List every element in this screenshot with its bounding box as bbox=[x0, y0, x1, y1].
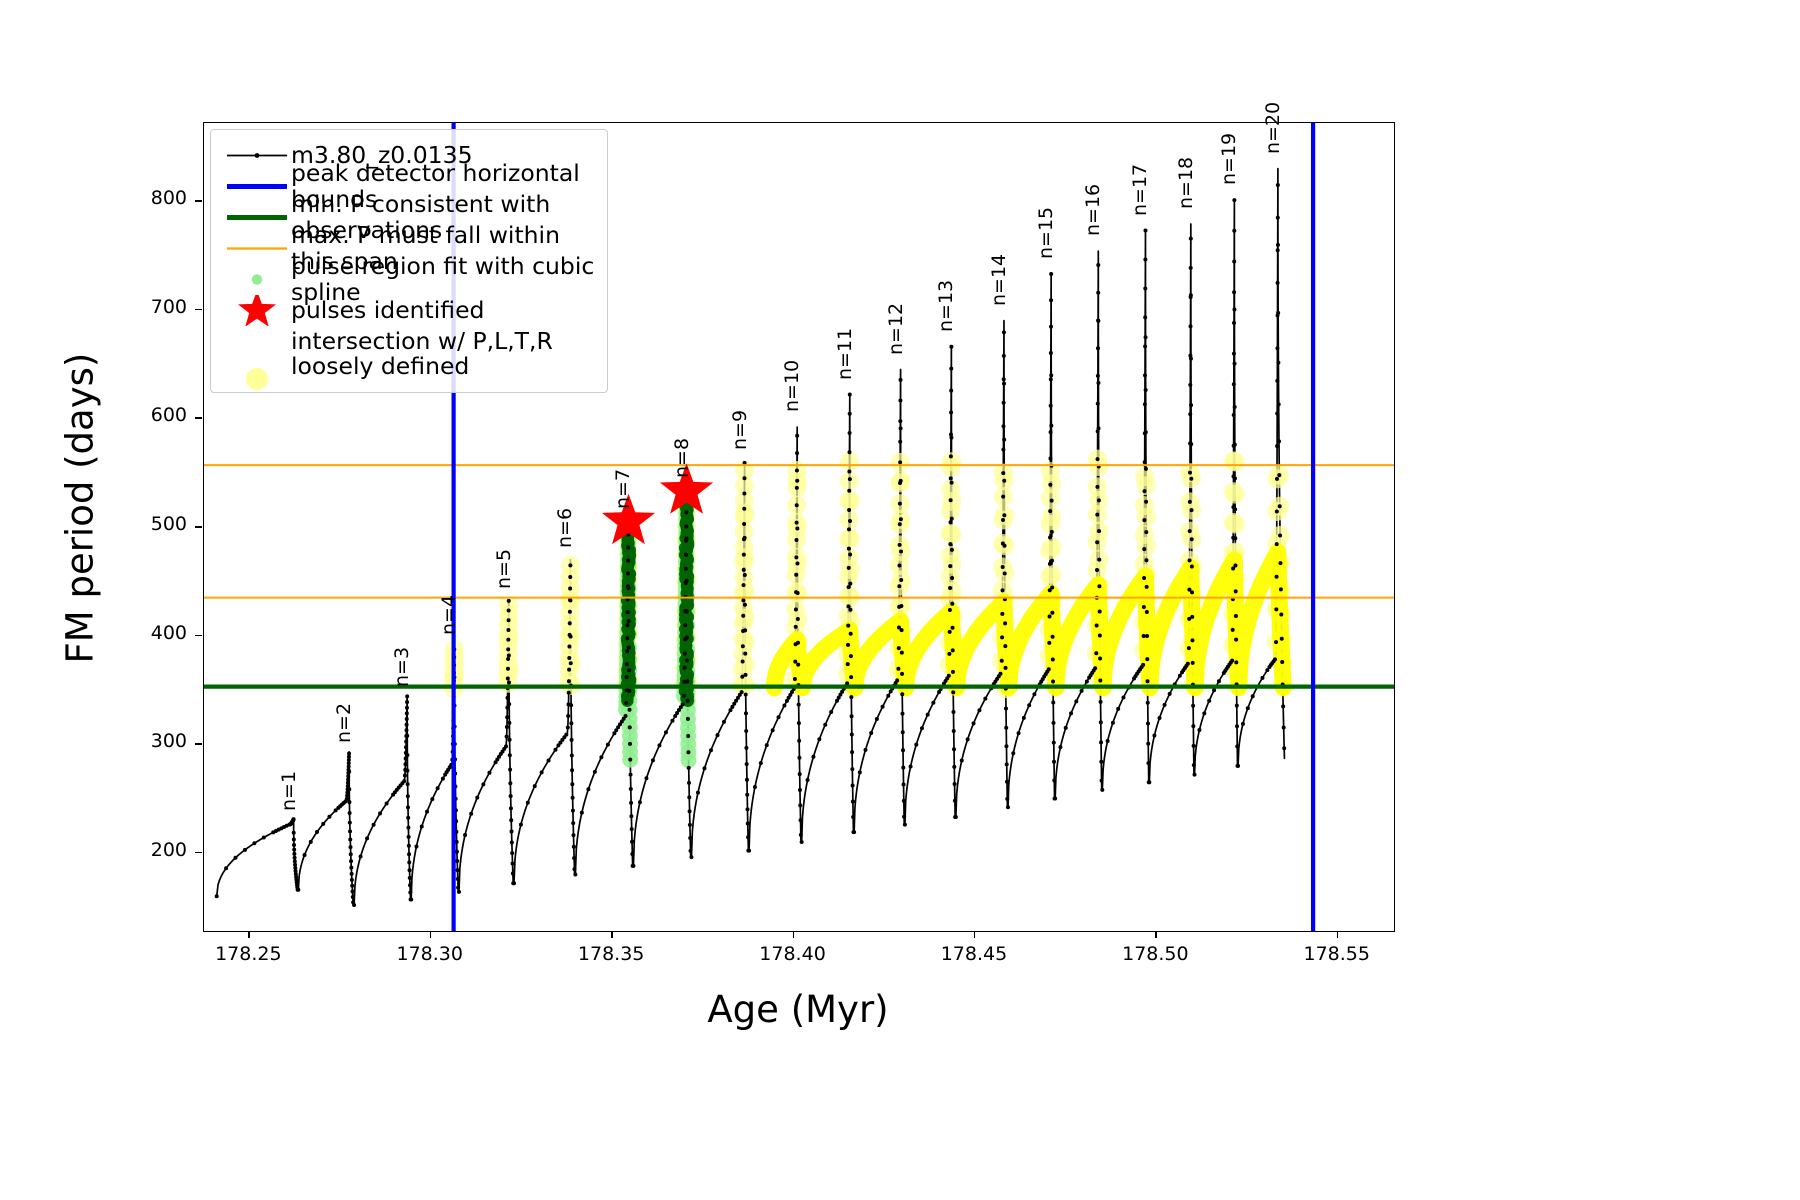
peak-label-n2: n=2 bbox=[333, 703, 355, 743]
data-point bbox=[1146, 679, 1150, 683]
data-point bbox=[1096, 381, 1100, 385]
data-point bbox=[506, 628, 510, 632]
data-point bbox=[627, 619, 631, 623]
data-point bbox=[797, 703, 801, 707]
data-point bbox=[1027, 703, 1031, 707]
data-point bbox=[350, 872, 354, 876]
data-point bbox=[507, 609, 511, 613]
data-point bbox=[1047, 667, 1051, 671]
data-point bbox=[1145, 585, 1149, 589]
data-point bbox=[1277, 439, 1281, 443]
data-point bbox=[796, 663, 800, 667]
data-point bbox=[510, 841, 514, 845]
data-point bbox=[1189, 266, 1193, 270]
data-point bbox=[506, 667, 510, 671]
data-point bbox=[570, 754, 574, 758]
data-point bbox=[1005, 780, 1009, 784]
data-point bbox=[569, 721, 573, 725]
data-point bbox=[899, 479, 903, 483]
data-point bbox=[983, 697, 987, 701]
data-point bbox=[796, 591, 800, 595]
intersection-marker bbox=[841, 529, 860, 548]
peak-label-n1: n=1 bbox=[278, 771, 300, 811]
data-point bbox=[744, 673, 748, 677]
data-point bbox=[952, 765, 956, 769]
data-point bbox=[1097, 558, 1101, 562]
data-point bbox=[898, 522, 902, 526]
data-point bbox=[405, 753, 409, 757]
data-point bbox=[321, 822, 325, 826]
data-point bbox=[1005, 762, 1009, 766]
data-point bbox=[404, 745, 408, 749]
data-point bbox=[505, 706, 509, 710]
data-point bbox=[487, 771, 491, 775]
data-point bbox=[1278, 533, 1282, 537]
data-point bbox=[1002, 424, 1006, 428]
data-point bbox=[952, 747, 956, 751]
data-point bbox=[847, 470, 851, 474]
data-point bbox=[1142, 576, 1146, 580]
data-point bbox=[567, 656, 571, 660]
data-point bbox=[1276, 243, 1280, 247]
data-point bbox=[1144, 430, 1148, 434]
data-point bbox=[1234, 614, 1238, 618]
data-point bbox=[352, 903, 356, 907]
legend-entry: intersection w/ P,L,T,R loosely defined bbox=[223, 326, 595, 382]
data-point bbox=[1096, 291, 1100, 295]
data-point bbox=[1234, 660, 1238, 664]
data-point bbox=[709, 748, 713, 752]
data-point bbox=[296, 888, 300, 892]
data-point bbox=[1096, 457, 1100, 461]
data-point bbox=[347, 770, 351, 774]
data-point bbox=[1232, 229, 1236, 233]
legend-marker-icon bbox=[223, 233, 291, 264]
y-tick-mark bbox=[195, 200, 202, 202]
data-point bbox=[848, 553, 852, 557]
data-point bbox=[1188, 500, 1192, 504]
data-point bbox=[1233, 536, 1237, 540]
data-point bbox=[897, 584, 901, 588]
data-point bbox=[1233, 507, 1237, 511]
data-point bbox=[1143, 315, 1147, 319]
data-point bbox=[947, 674, 951, 678]
data-point bbox=[1049, 298, 1053, 302]
data-point bbox=[1022, 716, 1026, 720]
legend-label: intersection w/ P,L,T,R loosely defined bbox=[291, 329, 553, 380]
data-point bbox=[564, 733, 568, 737]
data-point bbox=[1058, 745, 1062, 749]
data-point bbox=[569, 661, 573, 665]
x-tick-mark bbox=[611, 931, 613, 938]
data-point bbox=[1275, 542, 1279, 546]
data-point bbox=[811, 755, 815, 759]
data-point bbox=[572, 867, 576, 871]
data-point bbox=[507, 618, 511, 622]
data-point bbox=[1097, 529, 1101, 533]
data-point bbox=[951, 648, 955, 652]
data-point bbox=[408, 876, 412, 880]
data-point bbox=[686, 717, 690, 721]
data-point bbox=[1187, 646, 1191, 650]
data-point bbox=[568, 610, 572, 614]
data-point bbox=[1099, 760, 1103, 764]
data-point bbox=[1005, 797, 1009, 801]
data-point bbox=[405, 700, 409, 704]
data-point bbox=[1192, 744, 1196, 748]
data-point bbox=[687, 766, 691, 770]
data-point bbox=[686, 734, 690, 738]
data-point bbox=[408, 883, 412, 887]
data-point bbox=[795, 527, 799, 531]
data-point bbox=[1280, 637, 1284, 641]
data-point bbox=[347, 751, 351, 755]
data-point bbox=[1001, 588, 1005, 592]
data-point bbox=[1188, 383, 1192, 387]
intersection-marker bbox=[840, 452, 859, 471]
data-point bbox=[628, 725, 632, 729]
data-point bbox=[852, 830, 856, 834]
peak-label-n9: n=9 bbox=[729, 410, 751, 450]
data-point bbox=[1002, 438, 1006, 442]
data-point bbox=[350, 889, 354, 893]
data-point bbox=[1230, 659, 1234, 663]
data-point bbox=[817, 737, 821, 741]
data-point bbox=[455, 859, 459, 863]
data-point bbox=[406, 805, 410, 809]
data-point bbox=[405, 723, 409, 727]
data-point bbox=[903, 823, 907, 827]
y-tick-mark bbox=[195, 309, 202, 311]
data-point bbox=[420, 825, 424, 829]
data-point bbox=[960, 759, 964, 763]
data-point bbox=[568, 621, 572, 625]
legend-box: m3.80_z0.0135peak detector horizontal bo… bbox=[210, 129, 608, 393]
data-point bbox=[793, 660, 797, 664]
data-point bbox=[408, 890, 412, 894]
data-point bbox=[1276, 248, 1280, 252]
data-point bbox=[1189, 293, 1193, 297]
data-point bbox=[568, 587, 572, 591]
data-point bbox=[745, 807, 749, 811]
data-point bbox=[1188, 471, 1192, 475]
data-point bbox=[1004, 707, 1008, 711]
data-point bbox=[405, 706, 409, 710]
data-point bbox=[567, 679, 571, 683]
data-point bbox=[926, 713, 930, 717]
data-point bbox=[949, 411, 953, 415]
peak-label-n13: n=13 bbox=[935, 280, 957, 332]
data-point bbox=[1235, 724, 1239, 728]
data-point bbox=[568, 575, 572, 579]
data-point bbox=[606, 743, 610, 747]
intersection-marker bbox=[1043, 565, 1062, 584]
data-point bbox=[1003, 621, 1007, 625]
data-point bbox=[553, 748, 557, 752]
data-point bbox=[950, 481, 954, 485]
data-point bbox=[715, 733, 719, 737]
data-point bbox=[1217, 679, 1221, 683]
data-point bbox=[1064, 726, 1068, 730]
x-tick-label: 178.35 bbox=[551, 943, 671, 965]
data-point bbox=[1189, 357, 1193, 361]
data-point bbox=[406, 794, 410, 798]
data-point bbox=[1207, 699, 1211, 703]
peak-label-n16: n=16 bbox=[1082, 184, 1104, 236]
data-point bbox=[1000, 612, 1004, 616]
data-point bbox=[1282, 726, 1286, 730]
data-point bbox=[1233, 443, 1237, 447]
data-point bbox=[742, 507, 746, 511]
data-point bbox=[402, 779, 406, 783]
legend-marker-icon bbox=[223, 295, 291, 326]
data-point bbox=[1143, 489, 1147, 493]
data-point bbox=[349, 866, 353, 870]
data-point bbox=[851, 784, 855, 788]
legend-key-small-dot-icon bbox=[223, 264, 291, 295]
x-tick-label: 178.30 bbox=[370, 943, 490, 965]
data-point bbox=[782, 704, 786, 708]
data-point bbox=[685, 658, 689, 662]
peak-label-n20: n=20 bbox=[1262, 102, 1284, 154]
data-point bbox=[1152, 734, 1156, 738]
data-point bbox=[688, 809, 692, 813]
data-point bbox=[1188, 558, 1192, 562]
x-tick-label: 178.55 bbox=[1277, 943, 1397, 965]
data-point bbox=[347, 800, 351, 804]
data-point bbox=[899, 426, 903, 430]
data-point bbox=[347, 787, 351, 791]
data-point bbox=[1146, 701, 1150, 705]
data-point bbox=[1275, 477, 1279, 481]
data-point bbox=[1191, 724, 1195, 728]
intersection-marker bbox=[943, 555, 962, 574]
data-point bbox=[799, 833, 803, 837]
data-point bbox=[1146, 742, 1150, 746]
data-point bbox=[898, 419, 902, 423]
data-point bbox=[949, 367, 953, 371]
data-point bbox=[292, 838, 296, 842]
data-point bbox=[1190, 537, 1194, 541]
data-point bbox=[684, 510, 688, 514]
data-point bbox=[1189, 403, 1193, 407]
data-point bbox=[899, 378, 903, 382]
legend-label: pulses identified bbox=[291, 298, 484, 323]
data-point bbox=[315, 830, 319, 834]
data-point bbox=[1051, 701, 1055, 705]
data-point bbox=[849, 654, 853, 658]
data-point bbox=[1190, 508, 1194, 512]
data-point bbox=[1049, 325, 1053, 329]
data-point bbox=[1144, 530, 1148, 534]
data-point bbox=[626, 571, 630, 575]
data-point bbox=[1274, 607, 1278, 611]
data-point bbox=[948, 608, 952, 612]
y-tick-mark bbox=[195, 743, 202, 745]
data-point bbox=[744, 746, 748, 750]
data-point bbox=[953, 782, 957, 786]
data-point bbox=[1095, 485, 1099, 489]
data-point bbox=[771, 728, 775, 732]
data-point bbox=[1168, 692, 1172, 696]
data-point bbox=[570, 738, 574, 742]
data-point bbox=[795, 503, 799, 507]
data-point bbox=[886, 694, 890, 698]
data-point bbox=[303, 853, 307, 857]
data-point bbox=[722, 720, 726, 724]
data-point bbox=[846, 604, 850, 608]
data-point bbox=[743, 603, 747, 607]
x-tick-mark bbox=[1337, 931, 1339, 938]
data-point bbox=[797, 739, 801, 743]
data-point bbox=[1048, 483, 1052, 487]
data-point bbox=[687, 781, 691, 785]
data-point bbox=[795, 469, 799, 473]
data-point bbox=[689, 849, 693, 853]
data-point bbox=[405, 694, 409, 698]
data-point bbox=[901, 748, 905, 752]
x-tick-label: 178.45 bbox=[914, 943, 1034, 965]
data-point bbox=[407, 860, 411, 864]
data-point bbox=[741, 644, 745, 648]
y-tick-label: 400 bbox=[95, 622, 187, 644]
data-point bbox=[948, 564, 952, 568]
data-point bbox=[224, 866, 228, 870]
data-point bbox=[794, 538, 798, 542]
data-point bbox=[950, 602, 954, 606]
data-point bbox=[920, 726, 924, 730]
data-point bbox=[506, 696, 510, 700]
data-point bbox=[1188, 412, 1192, 416]
data-point bbox=[972, 721, 976, 725]
x-tick-label: 178.40 bbox=[733, 943, 853, 965]
data-point bbox=[685, 610, 689, 614]
data-point bbox=[1145, 657, 1149, 661]
data-point bbox=[1279, 613, 1283, 617]
y-tick-mark bbox=[195, 526, 202, 528]
data-point bbox=[683, 623, 687, 627]
data-point bbox=[406, 769, 410, 773]
data-point bbox=[1003, 572, 1007, 576]
data-point bbox=[747, 849, 751, 853]
data-point bbox=[1100, 788, 1104, 792]
data-point bbox=[1190, 638, 1194, 642]
data-point bbox=[1232, 413, 1236, 417]
data-point bbox=[414, 844, 418, 848]
data-point bbox=[570, 782, 574, 786]
legend-dot bbox=[252, 274, 262, 284]
legend-marker-icon bbox=[223, 171, 291, 202]
data-point bbox=[1186, 662, 1190, 666]
data-point bbox=[262, 836, 266, 840]
data-point bbox=[848, 412, 852, 416]
data-point bbox=[881, 705, 885, 709]
data-point bbox=[1143, 257, 1147, 261]
data-point bbox=[753, 785, 757, 789]
data-point bbox=[628, 708, 632, 712]
data-point bbox=[1277, 402, 1281, 406]
data-point bbox=[1146, 761, 1150, 765]
data-point bbox=[1095, 540, 1099, 544]
data-point bbox=[252, 841, 256, 845]
data-point bbox=[1098, 679, 1102, 683]
data-point bbox=[741, 598, 745, 602]
data-point bbox=[1095, 624, 1099, 628]
data-point bbox=[899, 517, 903, 521]
y-tick-mark bbox=[195, 417, 202, 419]
data-point bbox=[1144, 558, 1148, 562]
data-point bbox=[795, 486, 799, 490]
peak-label-n5: n=5 bbox=[493, 549, 515, 589]
data-point bbox=[1273, 657, 1277, 661]
data-point bbox=[425, 810, 429, 814]
data-point bbox=[293, 856, 297, 860]
data-point bbox=[1050, 559, 1054, 563]
data-point bbox=[909, 764, 913, 768]
data-point bbox=[745, 762, 749, 766]
data-point bbox=[899, 549, 903, 553]
data-point bbox=[1143, 344, 1147, 348]
data-point bbox=[475, 796, 479, 800]
data-point bbox=[744, 693, 748, 697]
data-point bbox=[1017, 731, 1021, 735]
data-point bbox=[456, 886, 460, 890]
data-point bbox=[1246, 706, 1250, 710]
data-point bbox=[1276, 281, 1280, 285]
intersection-marker bbox=[735, 504, 754, 523]
data-point bbox=[1051, 658, 1055, 662]
data-point bbox=[566, 714, 570, 718]
data-point bbox=[1275, 346, 1279, 350]
data-point bbox=[507, 702, 511, 706]
data-point bbox=[1001, 495, 1005, 499]
legend-entry: pulse region fit with cubic spline bbox=[223, 264, 595, 295]
data-point bbox=[1143, 229, 1147, 233]
data-point bbox=[627, 668, 631, 672]
peak-label-n14: n=14 bbox=[988, 254, 1010, 306]
data-point bbox=[1047, 641, 1051, 645]
data-point bbox=[1275, 575, 1279, 579]
data-point bbox=[1002, 479, 1006, 483]
data-point bbox=[568, 598, 572, 602]
data-point bbox=[512, 881, 516, 885]
data-point bbox=[507, 680, 511, 684]
data-point bbox=[1002, 382, 1006, 386]
data-point bbox=[898, 502, 902, 506]
data-point bbox=[670, 719, 674, 723]
intersection-marker bbox=[1137, 508, 1156, 527]
data-point bbox=[966, 737, 970, 741]
data-point bbox=[1234, 564, 1238, 568]
data-point bbox=[506, 647, 510, 651]
data-point bbox=[1121, 695, 1125, 699]
data-point bbox=[950, 576, 954, 580]
intersection-marker bbox=[841, 560, 860, 579]
data-point bbox=[689, 855, 693, 859]
data-point bbox=[644, 776, 648, 780]
y-tick-mark bbox=[195, 635, 202, 637]
data-point bbox=[405, 711, 409, 715]
data-point bbox=[1233, 362, 1237, 366]
y-tick-label: 300 bbox=[95, 730, 187, 752]
data-point bbox=[327, 815, 331, 819]
data-point bbox=[798, 803, 802, 807]
data-point bbox=[1276, 311, 1280, 315]
data-point bbox=[954, 815, 958, 819]
data-point bbox=[1096, 263, 1100, 267]
data-point bbox=[533, 784, 537, 788]
data-point bbox=[348, 829, 352, 833]
